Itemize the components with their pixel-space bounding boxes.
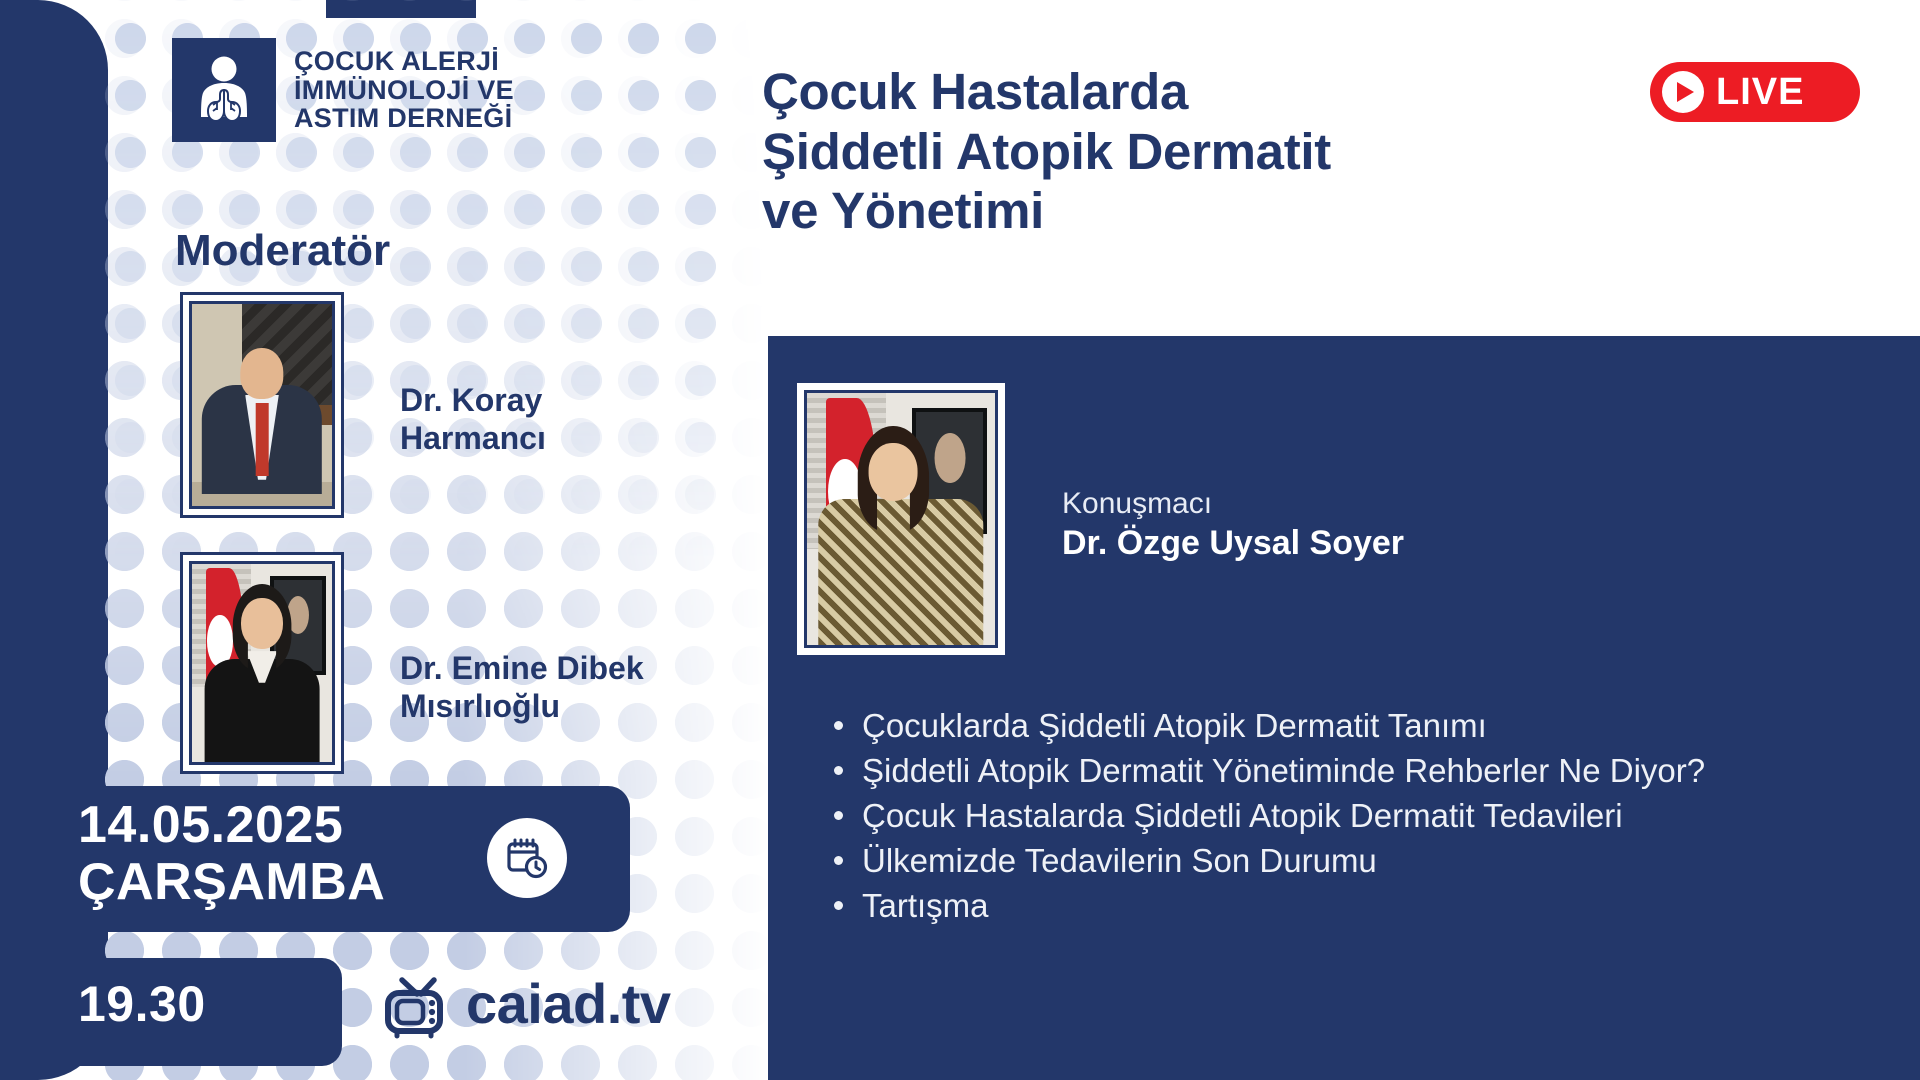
play-icon [1662, 71, 1704, 113]
broadcast-site: caiad.tv [466, 971, 671, 1036]
live-label: LIVE [1716, 73, 1804, 111]
organization-logo: ÇOCUK ALERJİ İMMÜNOLOJİ VE ASTIM DERNEĞİ [172, 38, 514, 142]
speaker-name: Dr. Özge Uysal Soyer [1062, 524, 1404, 563]
speaker-photo [797, 383, 1005, 655]
calendar-clock-icon [487, 818, 567, 898]
event-date: 14.05.2025 [78, 795, 343, 855]
child-lungs-icon [172, 38, 276, 142]
broadcast-channel[interactable]: caiad.tv [378, 960, 671, 1047]
moderator-name-2: Dr. Emine Dibek Mısırlıoğlu [400, 650, 720, 726]
topic-list: Çocuklarda Şiddetli Atopik Dermatit Tanı… [826, 705, 1866, 929]
moderator-photo-1 [180, 292, 344, 518]
moderator-photo-2 [180, 552, 344, 774]
speaker-label: Konuşmacı [1062, 487, 1212, 521]
event-time: 19.30 [78, 975, 206, 1033]
list-item: Ülkemizde Tedavilerin Son Durumu [826, 840, 1866, 883]
moderator-label: Moderatör [175, 226, 390, 276]
list-item: Çocuklarda Şiddetli Atopik Dermatit Tanı… [826, 705, 1866, 748]
moderator-name-1: Dr. Koray Harmancı [400, 382, 700, 458]
tv-icon [378, 960, 460, 1047]
organization-name: ÇOCUK ALERJİ İMMÜNOLOJİ VE ASTIM DERNEĞİ [294, 47, 514, 133]
page-title: Çocuk Hastalarda Şiddetli Atopik Dermati… [762, 62, 1602, 241]
list-item: Çocuk Hastalarda Şiddetli Atopik Dermati… [826, 795, 1866, 838]
live-badge[interactable]: LIVE [1650, 62, 1860, 122]
list-item: Şiddetli Atopik Dermatit Yönetiminde Reh… [826, 750, 1866, 793]
event-day: ÇARŞAMBA [78, 852, 385, 912]
webinar-poster: ÇOCUK ALERJİ İMMÜNOLOJİ VE ASTIM DERNEĞİ… [0, 0, 1920, 1080]
list-item: Tartışma [826, 885, 1866, 928]
